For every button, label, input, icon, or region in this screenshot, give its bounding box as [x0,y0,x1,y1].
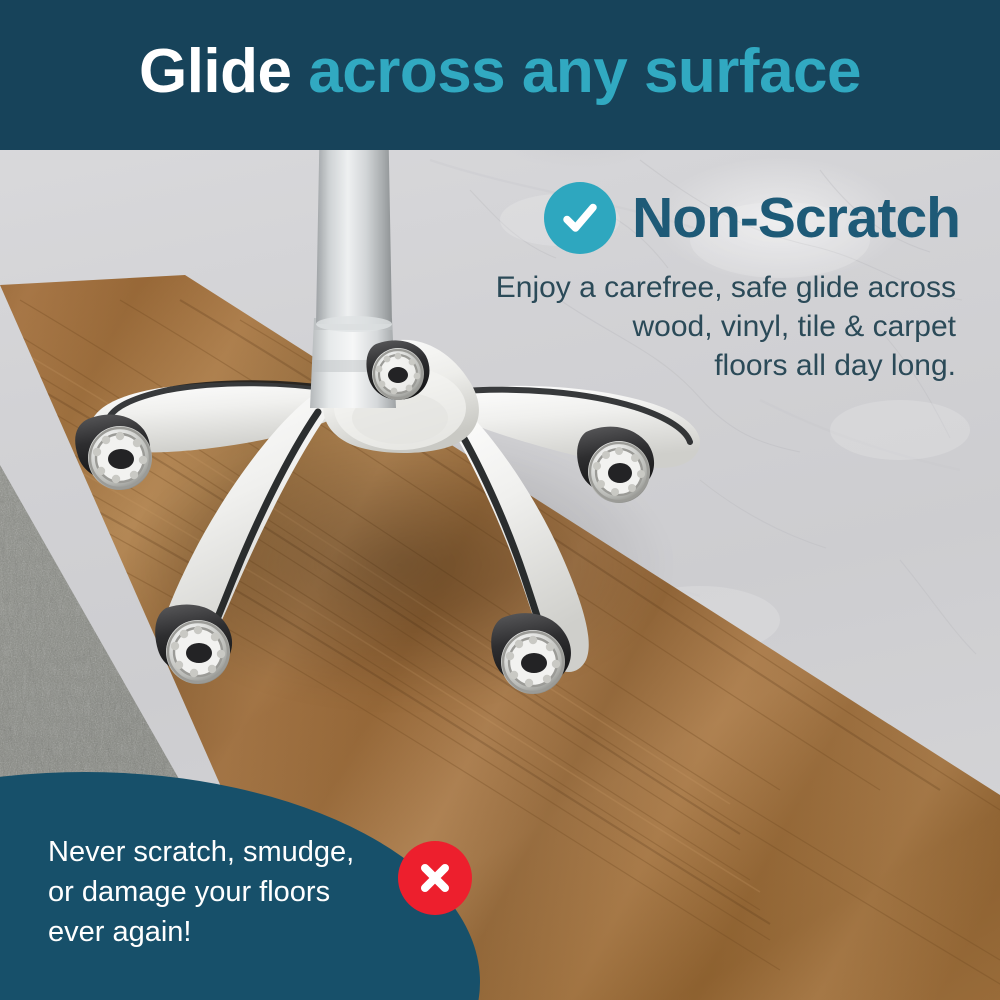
check-icon [544,182,616,254]
callout-text-line: or damage your floors [48,872,448,912]
feature-description-line: floors all day long. [420,346,956,385]
headline-part-one: Glide [139,37,292,106]
product-infographic: Glide across any surface Non-Scratch Enj… [0,0,1000,1000]
header-banner: Glide across any surface [0,0,1000,150]
callout-text-line: Never scratch, smudge, [48,832,448,872]
callout-text: Never scratch, smudge, or damage your fl… [48,832,448,952]
callout-text-line: ever again! [48,912,448,952]
page-title: Glide across any surface [139,41,861,109]
feature-description: Enjoy a carefree, safe glide across wood… [420,268,960,385]
headline-part-two: across any surface [308,37,861,106]
feature-block: Non-Scratch Enjoy a carefree, safe glide… [420,182,960,385]
feature-heading-row: Non-Scratch [420,182,960,254]
feature-description-line: Enjoy a carefree, safe glide across [420,268,956,307]
feature-title: Non-Scratch [632,190,960,247]
feature-description-line: wood, vinyl, tile & carpet [420,307,956,346]
x-icon [398,841,472,915]
